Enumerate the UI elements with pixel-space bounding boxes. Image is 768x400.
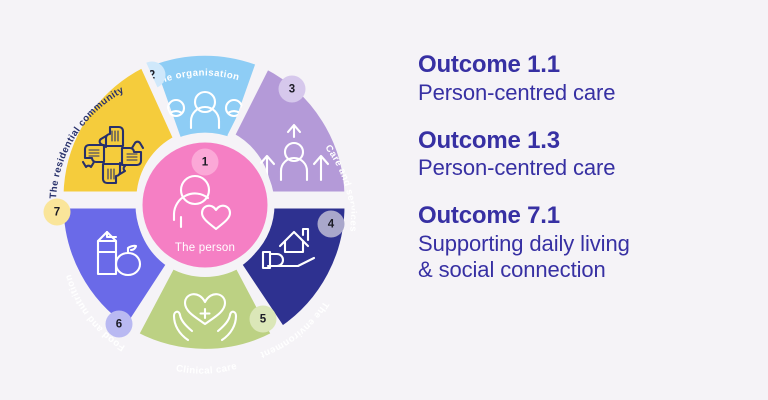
outcome-description: Person-centred care bbox=[418, 80, 768, 106]
segment-badge-7: 7 bbox=[44, 199, 71, 226]
outcome-item: Outcome 1.3 Person-centred care bbox=[418, 128, 768, 182]
segment-badge-5: 5 bbox=[250, 306, 277, 333]
outcome-title: Outcome 7.1 bbox=[418, 203, 768, 230]
outcome-description: Person-centred care bbox=[418, 155, 768, 181]
segment-number-6: 6 bbox=[116, 319, 122, 331]
outcome-title: Outcome 1.1 bbox=[418, 52, 768, 79]
segment-number-3: 3 bbox=[289, 84, 295, 96]
wheel-svg: The organisation 2 bbox=[0, 0, 400, 400]
page-root: The organisation 2 bbox=[0, 0, 768, 400]
segment-badge-4: 4 bbox=[318, 211, 345, 238]
center-label: The person bbox=[175, 242, 235, 254]
outcomes-list: Outcome 1.1 Person-centred care Outcome … bbox=[400, 0, 768, 400]
outcome-item: Outcome 7.1 Supporting daily living & so… bbox=[418, 203, 768, 282]
outcome-item: Outcome 1.1 Person-centred care bbox=[418, 52, 768, 106]
segment-number-4: 4 bbox=[328, 219, 335, 231]
segment-label-clinical-care: Clinical care bbox=[175, 361, 238, 377]
segment-number-5: 5 bbox=[260, 314, 267, 326]
outcome-description: Supporting daily living & social connect… bbox=[418, 231, 768, 282]
center-badge-1: 1 bbox=[192, 149, 219, 176]
wheel-center-the-person[interactable]: The person 1 bbox=[139, 139, 271, 271]
segment-number-7: 7 bbox=[54, 207, 60, 219]
quality-standards-wheel: The organisation 2 bbox=[0, 0, 400, 400]
center-number-1: 1 bbox=[202, 157, 209, 169]
outcome-title: Outcome 1.3 bbox=[418, 128, 768, 155]
segment-badge-3: 3 bbox=[279, 76, 306, 103]
segment-badge-6: 6 bbox=[106, 311, 133, 338]
